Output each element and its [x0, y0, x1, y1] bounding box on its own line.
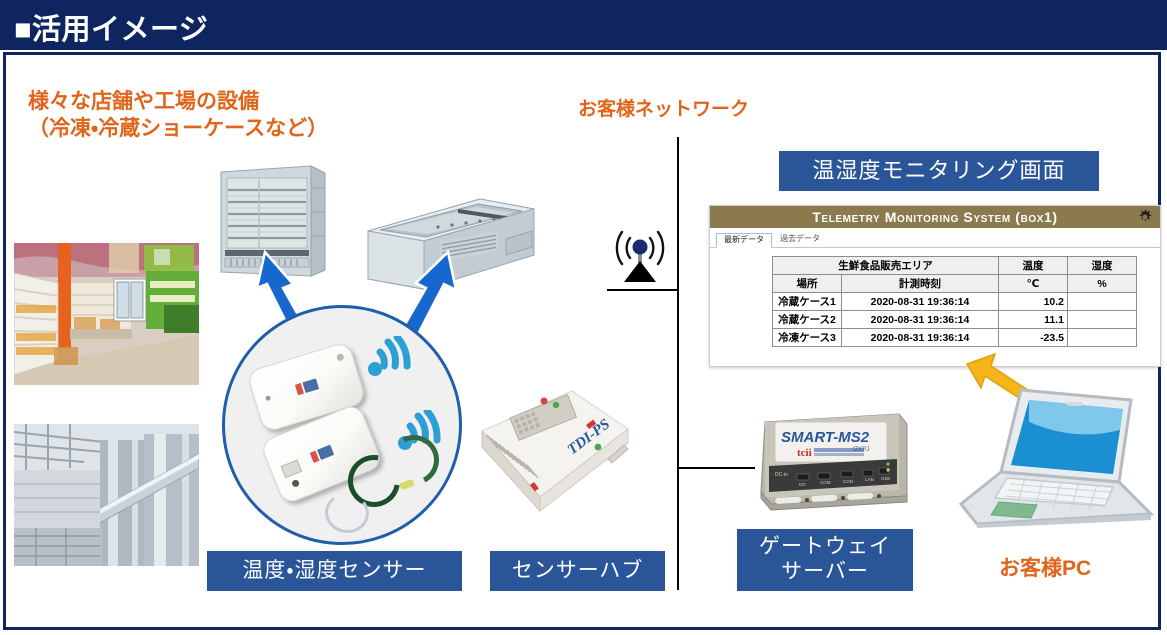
sensor-logo [294, 379, 318, 396]
customer-laptop-illustration [955, 378, 1155, 528]
cell-time: 2020-08-31 19:36:14 [842, 329, 999, 347]
telemetry-table-wrap: 生鮮食品販売エリア 温度 湿度 場所 計測時刻 ℃ % 冷蔵ケース1 2020-… [710, 248, 1160, 347]
network-divider-line [677, 137, 679, 290]
col-header-time: 計測時刻 [842, 275, 999, 293]
unit-humidity: % [1068, 275, 1137, 293]
cell-time: 2020-08-31 19:36:14 [842, 311, 999, 329]
network-branch-line [607, 289, 679, 291]
cell-place: 冷蔵ケース2 [773, 311, 842, 329]
table-row[interactable]: 冷蔵ケース1 2020-08-31 19:36:14 10.2 [773, 293, 1137, 311]
wifi-icon [366, 336, 418, 382]
cell-humidity [1068, 311, 1137, 329]
network-heading: お客様ネットワーク [578, 98, 749, 123]
header-bar: ■活用イメージ [0, 0, 1167, 50]
telemetry-monitoring-window[interactable]: Telemetry Monitoring System (box1) 最新データ… [709, 205, 1161, 367]
svg-text:I2C: I2C [799, 482, 807, 487]
network-branch-line [677, 467, 755, 469]
svg-text:DC-in: DC-in [775, 472, 788, 478]
supermarket-photo [14, 243, 199, 385]
cell-temperature: -23.5 [999, 329, 1068, 347]
factory-photo-art [14, 424, 199, 566]
antenna-icon [608, 228, 672, 288]
activation-image-slide: ■活用イメージ 様々な店舗や工場の設備 （冷凍・冷蔵ショーケースなど） お客様ネ… [0, 0, 1167, 635]
telemetry-table-body: 冷蔵ケース1 2020-08-31 19:36:14 10.2 冷蔵ケース2 2… [773, 293, 1137, 347]
sensor-hub-device: TDI-PS [468, 385, 633, 520]
factory-photo [14, 424, 199, 566]
cell-humidity [1068, 329, 1137, 347]
sensor-display [281, 459, 303, 478]
table-group-header-row: 生鮮食品販売エリア 温度 湿度 [773, 257, 1137, 275]
chip-temp-humidity-sensor: 温度・湿度センサー [207, 551, 462, 591]
table-row[interactable]: 冷蔵ケース2 2020-08-31 19:36:14 11.1 [773, 311, 1137, 329]
cell-place: 冷凍ケース3 [773, 329, 842, 347]
sensor-button [291, 479, 300, 488]
tab-past-data[interactable]: 過去データ [772, 232, 828, 247]
unit-temperature: ℃ [999, 275, 1068, 293]
tab-latest-data[interactable]: 最新データ [716, 233, 772, 248]
col-header-humidity: 湿度 [1068, 257, 1137, 275]
sensor-logo [309, 445, 334, 463]
svg-text:COM: COM [820, 480, 831, 485]
telemetry-table: 生鮮食品販売エリア 温度 湿度 場所 計測時刻 ℃ % 冷蔵ケース1 2020-… [772, 256, 1137, 347]
col-header-temperature: 温度 [999, 257, 1068, 275]
monitor-tabs[interactable]: 最新データ 過去データ [710, 228, 1160, 248]
table-subheader-row: 場所 計測時刻 ℃ % [773, 275, 1137, 293]
sensor-port [336, 353, 345, 362]
network-divider-line [677, 290, 679, 468]
svg-text:USB: USB [881, 476, 890, 481]
gateway-server-device: SMART-MS2 tZKPJ tcii DC-in I2C COM CON L… [757, 404, 909, 516]
group-header-area: 生鮮食品販売エリア [773, 257, 999, 275]
customer-pc-label: お客様PC [999, 552, 1091, 582]
table-row[interactable]: 冷凍ケース3 2020-08-31 19:36:14 -23.5 [773, 329, 1137, 347]
monitor-titlebar: Telemetry Monitoring System (box1) [710, 206, 1160, 228]
cell-temperature: 11.1 [999, 311, 1068, 329]
col-header-place: 場所 [773, 275, 842, 293]
equipment-heading: 様々な店舗や工場の設備 （冷凍・冷蔵ショーケースなど） [28, 88, 328, 143]
cell-temperature: 10.2 [999, 293, 1068, 311]
gateway-logo-label: tcii [797, 447, 812, 459]
cell-place: 冷蔵ケース1 [773, 293, 842, 311]
monitor-title: Telemetry Monitoring System (box1) [812, 209, 1057, 225]
sensor-indicator [265, 395, 271, 401]
supermarket-photo-art [14, 243, 199, 385]
cell-time: 2020-08-31 19:36:14 [842, 293, 999, 311]
chip-monitoring-screen: 温湿度モニタリング画面 [779, 151, 1099, 191]
page-title: ■活用イメージ [14, 6, 208, 48]
chip-sensor-hub: センサーハブ [490, 551, 665, 591]
cell-humidity [1068, 293, 1137, 311]
svg-text:LAN: LAN [865, 477, 874, 482]
gear-icon[interactable] [1137, 209, 1153, 225]
chip-gateway-server: ゲートウェイ サーバー [737, 529, 913, 591]
gateway-brand-label: SMART-MS2 [781, 429, 870, 446]
svg-text:CON: CON [843, 479, 853, 484]
network-divider-line [677, 468, 679, 590]
